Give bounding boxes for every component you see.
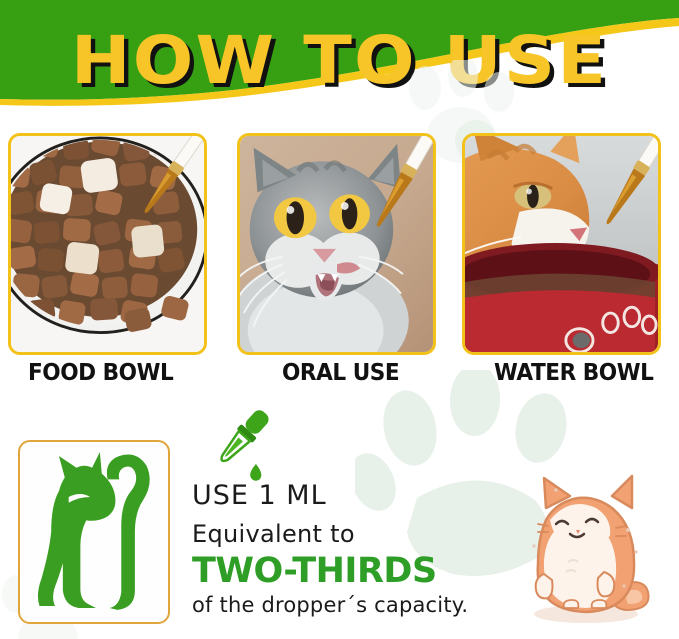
photo-card-oral-use[interactable] <box>237 133 436 355</box>
dosage-capacity-line: of the dropper´s capacity. <box>192 594 522 617</box>
dropper-icon <box>206 406 276 484</box>
dosage-equivalent-line: Equivalent to <box>192 522 522 547</box>
cartoon-cat-illustration <box>508 468 668 630</box>
photo-card-water-bowl[interactable] <box>462 133 661 355</box>
oral-use-image <box>240 136 433 352</box>
photo-label-oral-use: ORAL USE <box>282 360 399 386</box>
photo-card-food-bowl[interactable] <box>8 133 207 355</box>
food-bowl-image <box>11 136 204 352</box>
photo-row <box>0 133 679 355</box>
cat-silhouette-icon <box>20 442 168 622</box>
cat-silhouette-box <box>18 440 170 624</box>
page-title: HOW TO USE <box>0 28 679 94</box>
water-bowl-image <box>465 136 658 352</box>
photo-label-water-bowl: WATER BOWL <box>494 360 653 386</box>
dosage-text-block: USE 1 ML Equivalent to TWO-THIRDS of the… <box>192 482 522 617</box>
infographic-page: HOW TO USE <box>0 0 679 639</box>
header-banner: HOW TO USE <box>0 0 679 120</box>
photo-label-food-bowl: FOOD BOWL <box>28 360 173 386</box>
cartoon-cat-icon <box>508 468 668 630</box>
photo-label-row: FOOD BOWL ORAL USE WATER BOWL <box>0 360 679 390</box>
dosage-fraction: TWO-THIRDS <box>192 553 522 590</box>
dosage-use-line: USE 1 ML <box>192 482 522 510</box>
